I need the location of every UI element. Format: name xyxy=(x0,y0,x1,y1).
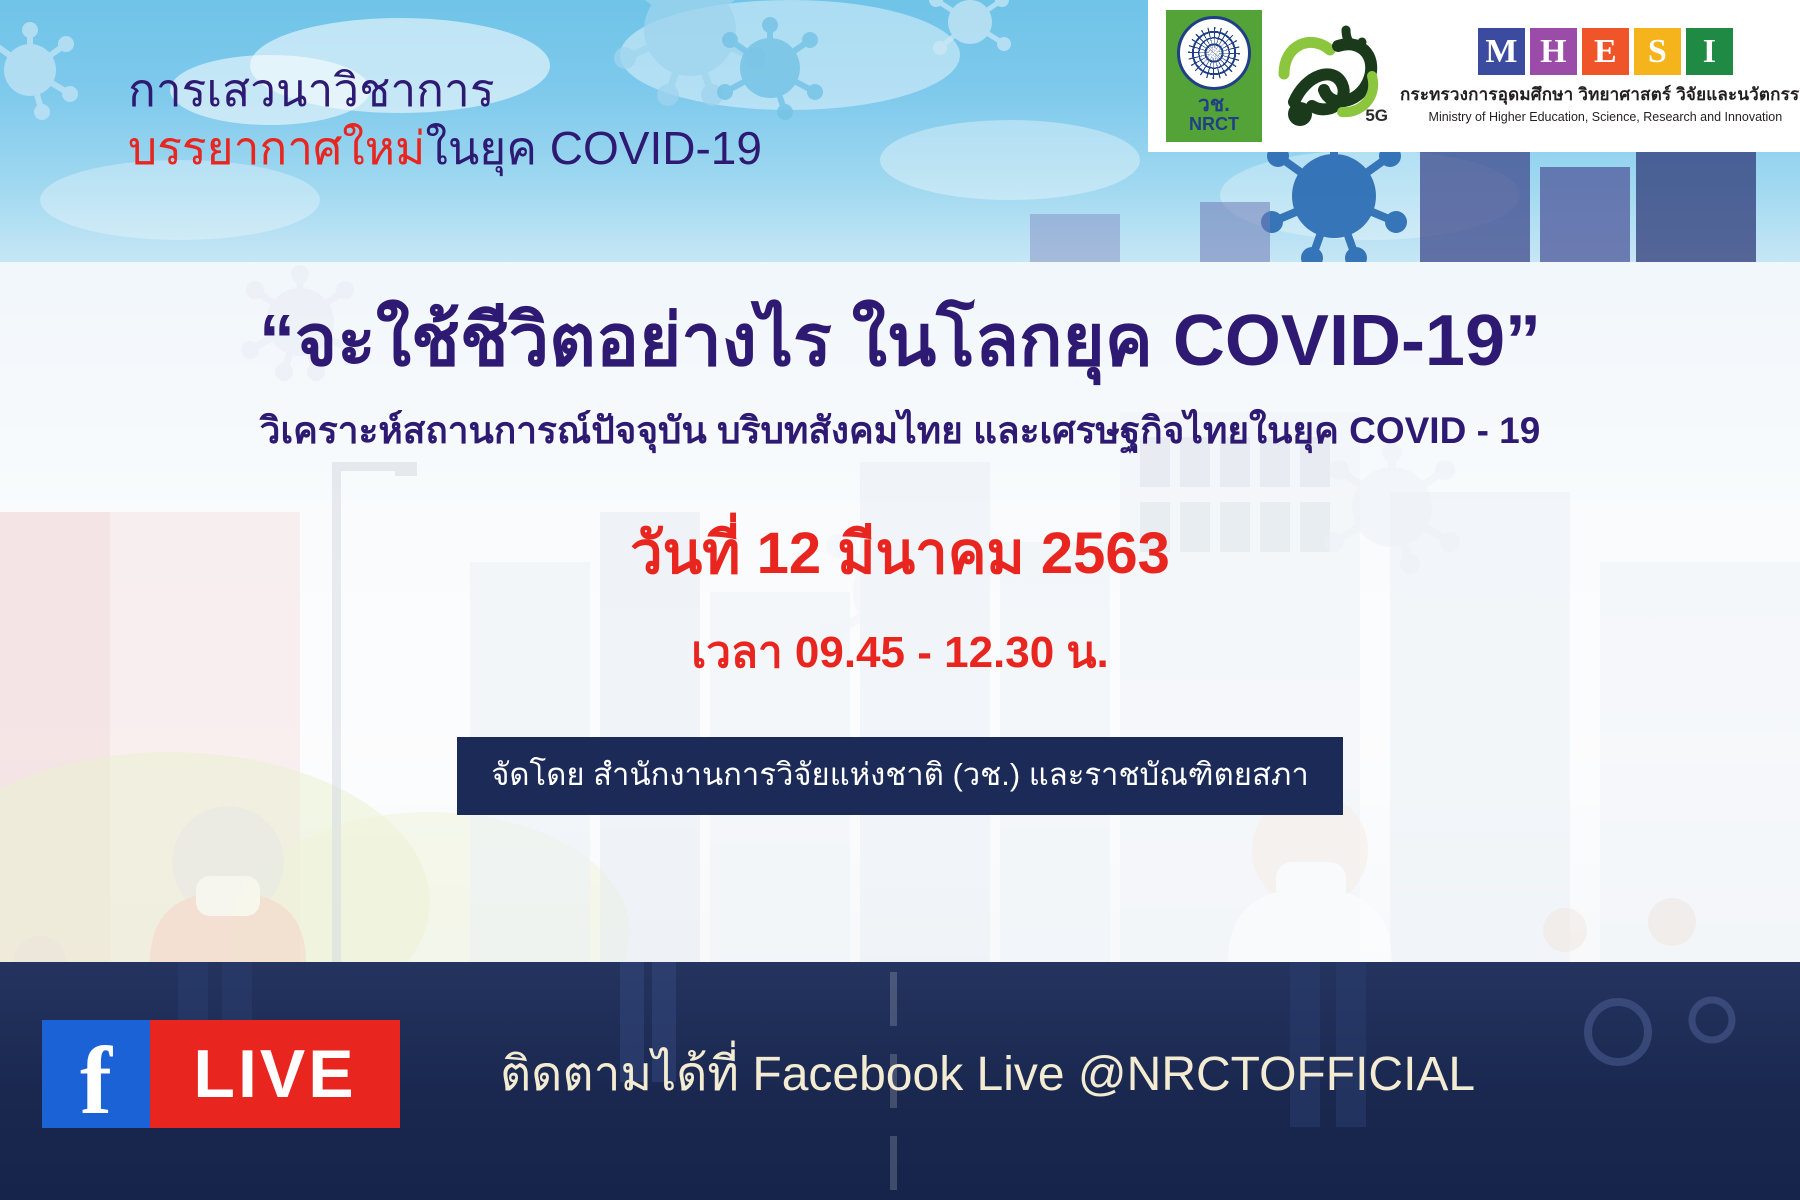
covid-seminar-poster: วช. NRCT 5G M H E S I กระทรวงการอุดมศึ xyxy=(0,0,1800,1200)
live-label: LIVE xyxy=(193,1035,356,1113)
mhesi-letter-m: M xyxy=(1478,28,1525,75)
organizer-row: จัดโดย สำนักงานการวิจัยแห่งชาติ (วช.) แล… xyxy=(0,737,1800,815)
virus-icon xyxy=(929,0,1011,55)
event-date: วันที่ 12 มีนาคม 2563 xyxy=(0,506,1800,599)
page-subtitle: วิเคราะห์สถานการณ์ปัจจุบัน บริบทสังคมไทย… xyxy=(0,401,1800,460)
nrct-abbr-en: NRCT xyxy=(1189,115,1239,135)
mhesi-letter-h: H xyxy=(1530,28,1577,75)
mhesi-letter-e: E xyxy=(1582,28,1629,75)
seminar-kicker: การเสวนาวิชาการ xyxy=(128,62,762,120)
virus-icon xyxy=(0,22,78,120)
facebook-f-glyph: f xyxy=(80,1042,112,1121)
live-label-box: LIVE xyxy=(150,1020,400,1128)
mhesi-letter-i: I xyxy=(1686,28,1733,75)
nrct-logo: วช. NRCT xyxy=(1166,10,1262,142)
follow-instruction: ติดตามได้ที่ Facebook Live @NRCTOFFICIAL xyxy=(500,1036,1475,1112)
mhesi-ministry-name-en: Ministry of Higher Education, Science, R… xyxy=(1429,110,1783,124)
seminar-theme-red: บรรยากาศใหม่ xyxy=(128,122,425,174)
event-time: เวลา 09.45 - 12.30 น. xyxy=(0,617,1800,687)
nrct-abbr-th: วช. xyxy=(1198,94,1230,115)
facebook-live-badge[interactable]: f LIVE xyxy=(42,1020,400,1128)
mhesi-letter-row: M H E S I xyxy=(1478,28,1733,75)
header-text-block: การเสวนาวิชาการ บรรยากาศใหม่ในยุค COVID-… xyxy=(128,62,762,177)
anniversary-5g-label: 5G xyxy=(1365,106,1388,126)
page-title: “จะใช้ชีวิตอย่างไร ในโลกยุค COVID-19” xyxy=(0,300,1800,383)
facebook-icon[interactable]: f xyxy=(42,1020,150,1128)
organizer-banner: จัดโดย สำนักงานการวิจัยแห่งชาติ (วช.) แล… xyxy=(457,737,1342,815)
poster-main-content: “จะใช้ชีวิตอย่างไร ในโลกยุค COVID-19” วิ… xyxy=(0,262,1800,962)
seminar-theme-blue: ในยุค COVID-19 xyxy=(425,122,762,174)
mhesi-logo: M H E S I กระทรวงการอุดมศึกษา วิทยาศาสตร… xyxy=(1400,28,1800,124)
seminar-theme-line: บรรยากาศใหม่ในยุค COVID-19 xyxy=(128,120,762,178)
mhesi-letter-s: S xyxy=(1634,28,1681,75)
nrct-5g-anniversary-logo: 5G xyxy=(1272,16,1390,136)
mhesi-ministry-name-th: กระทรวงการอุดมศึกษา วิทยาศาสตร์ วิจัยและ… xyxy=(1400,81,1800,108)
nrct-wheel-icon xyxy=(1177,16,1251,90)
partner-logo-strip: วช. NRCT 5G M H E S I กระทรวงการอุดมศึ xyxy=(1148,0,1800,152)
